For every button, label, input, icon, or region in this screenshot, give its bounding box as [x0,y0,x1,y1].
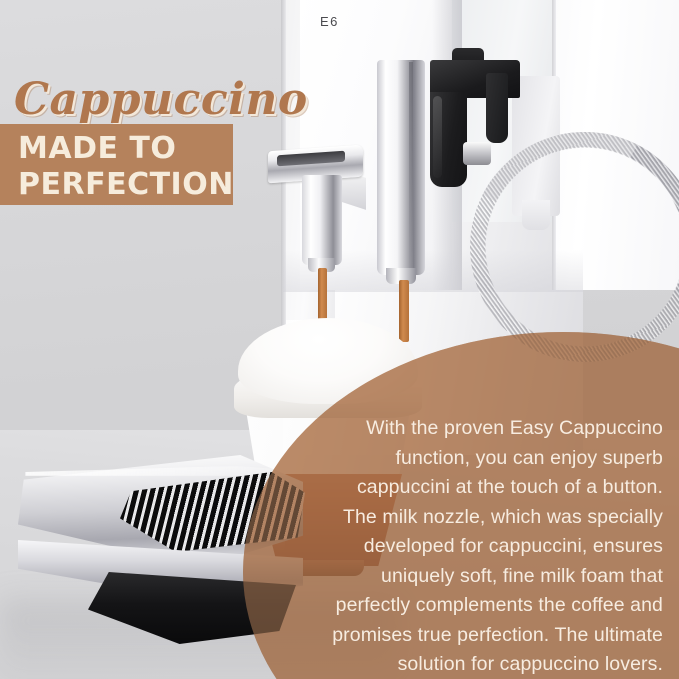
milk-nozzle-arm-highlight [433,96,442,178]
coffee-spout-right [377,60,425,275]
milk-bracket-tab [486,73,508,143]
coffee-spout-left [302,175,342,265]
model-label: E6 [320,14,339,29]
headline-script-word: Cappuccino [14,74,308,125]
headline-banner-line-1: MADE TO [18,134,176,164]
coffee-spout-right-seam [409,62,413,270]
body-copy: With the proven Easy Cappuccino function… [330,414,663,679]
milk-hose-collar [463,142,491,165]
headline-banner-line-2: PERFECTION [18,170,234,200]
product-marketing-poster: E6 [0,0,679,679]
